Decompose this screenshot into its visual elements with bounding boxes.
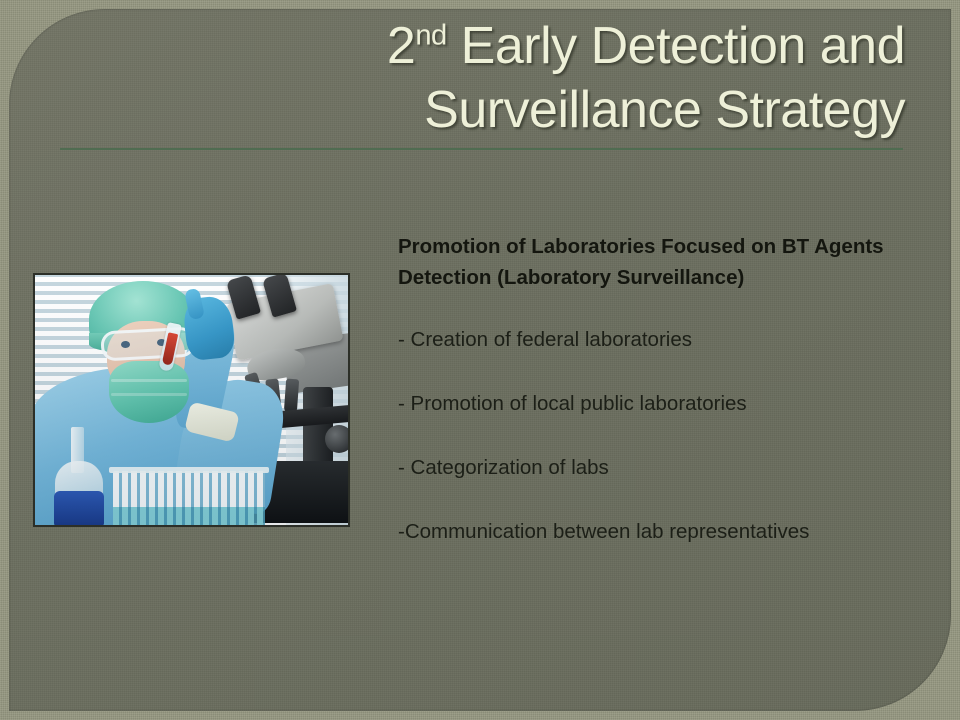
- title-ordinal: 2: [387, 17, 415, 75]
- bullet-item: - Promotion of local public laboratories: [398, 388, 906, 419]
- presentation-slide: 2nd Early Detection and Surveillance Str…: [0, 0, 960, 720]
- title-line-1-rest: Early Detection and: [447, 17, 905, 75]
- slide-body: Promotion of Laboratories Focused on BT …: [398, 231, 906, 547]
- bullet-item: -Communication between lab representativ…: [398, 516, 906, 547]
- title-ordinal-suffix: nd: [415, 20, 446, 52]
- slide-title: 2nd Early Detection and Surveillance Str…: [60, 14, 905, 142]
- laboratory-photo: [33, 273, 350, 527]
- photo-tone-overlay: [35, 275, 348, 525]
- bullet-item: - Categorization of labs: [398, 452, 906, 483]
- title-line-1: 2nd Early Detection and: [60, 14, 905, 78]
- title-divider-rule: [60, 148, 903, 150]
- bullet-item: - Creation of federal laboratories: [398, 324, 906, 355]
- title-line-2: Surveillance Strategy: [60, 78, 905, 142]
- body-heading: Promotion of Laboratories Focused on BT …: [398, 231, 906, 293]
